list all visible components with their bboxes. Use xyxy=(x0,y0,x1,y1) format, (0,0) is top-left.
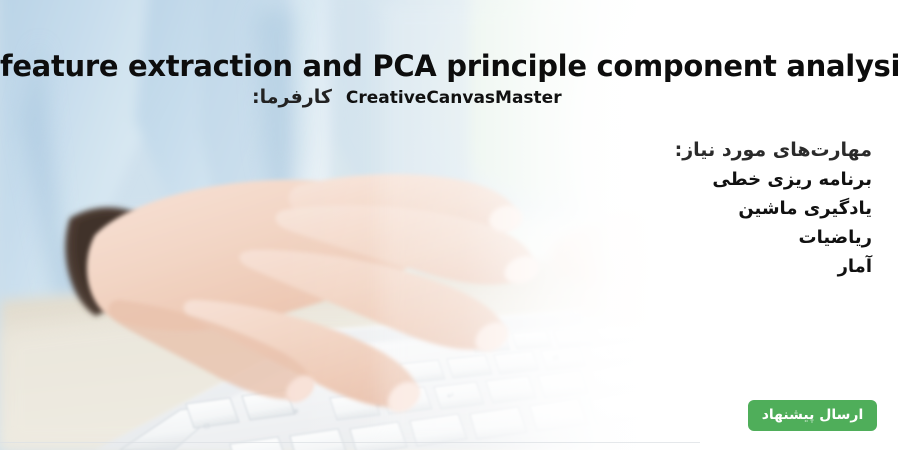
employer-name[interactable]: CreativeCanvasMaster xyxy=(346,88,562,108)
employer-label: کارفرما: xyxy=(252,86,332,108)
project-card: ✳ ✱ ↵ ≡ ○ ▫ xyxy=(0,0,900,450)
submit-proposal-button[interactable]: ارسال پیشنهاد xyxy=(748,400,877,431)
skills-label: مهارت‌های مورد نیاز: xyxy=(252,136,872,165)
page-title: feature extraction and PCA principle com… xyxy=(0,47,900,85)
skills-list: برنامه ریزی خطی یادگیری ماشین ریاضیات آم… xyxy=(252,165,872,281)
skills-block: مهارت‌های مورد نیاز: برنامه ریزی خطی یاد… xyxy=(252,136,872,281)
employer-row: کارفرما: CreativeCanvasMaster xyxy=(252,86,872,118)
list-item[interactable]: یادگیری ماشین xyxy=(252,194,872,223)
list-item[interactable]: ریاضیات xyxy=(252,223,872,252)
list-item[interactable]: برنامه ریزی خطی xyxy=(252,165,872,194)
project-info: کارفرما: CreativeCanvasMaster مهارت‌های … xyxy=(252,86,872,281)
photo-bottom-divider xyxy=(0,442,700,443)
list-item[interactable]: آمار xyxy=(252,252,872,281)
